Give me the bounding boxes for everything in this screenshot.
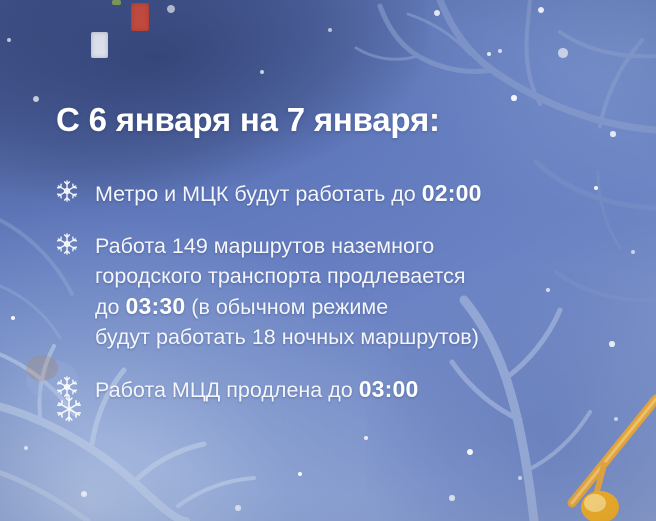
snowflake-icon — [56, 180, 78, 202]
list-item-line: Работа МЦД продлена до 03:00 — [95, 374, 636, 405]
text-segment: Работа 149 маршрутов наземного — [95, 234, 434, 258]
text-segment: Метро и МЦК будут работать до — [95, 182, 422, 206]
announcement-bullet-list: Метро и МЦК будут работать до 02:00 Рабо… — [56, 178, 636, 405]
list-item: Метро и МЦК будут работать до 02:00 — [56, 178, 636, 209]
list-item: Работа 149 маршрутов наземногогородского… — [56, 231, 636, 352]
list-item-label: Работа 149 маршрутов наземногогородского… — [95, 231, 636, 352]
text-segment: (в обычном режиме — [185, 295, 388, 319]
list-item-line: городского транспорта продлевается — [95, 261, 636, 291]
list-item-line: Работа 149 маршрутов наземного — [95, 231, 636, 261]
time-value: 02:00 — [422, 180, 482, 206]
list-item-line: Метро и МЦК будут работать до 02:00 — [95, 178, 636, 209]
list-item-label: Метро и МЦК будут работать до 02:00 — [95, 178, 636, 209]
text-segment: будут работать 18 ночных маршрутов) — [95, 325, 479, 349]
list-item-label: Работа МЦД продлена до 03:00 — [95, 374, 636, 405]
page-title: С 6 января на 7 января: — [56, 101, 440, 139]
text-segment: Работа МЦД продлена до — [95, 378, 359, 402]
time-value: 03:00 — [359, 376, 419, 402]
text-segment: до — [95, 295, 125, 319]
text-segment: городского транспорта продлевается — [95, 264, 466, 288]
poster-content: С 6 января на 7 января: Метро и МЦК буду… — [0, 0, 656, 521]
time-value: 03:30 — [125, 293, 185, 319]
list-item-line: до 03:30 (в обычном режиме — [95, 291, 636, 322]
list-item-line: будут работать 18 ночных маршрутов) — [95, 322, 636, 352]
list-item: Работа МЦД продлена до 03:00 — [56, 374, 636, 405]
snowflake-icon — [56, 233, 78, 255]
winter-transport-announcement-poster: С 6 января на 7 января: Метро и МЦК буду… — [0, 0, 656, 521]
snowflake-icon — [56, 376, 78, 398]
